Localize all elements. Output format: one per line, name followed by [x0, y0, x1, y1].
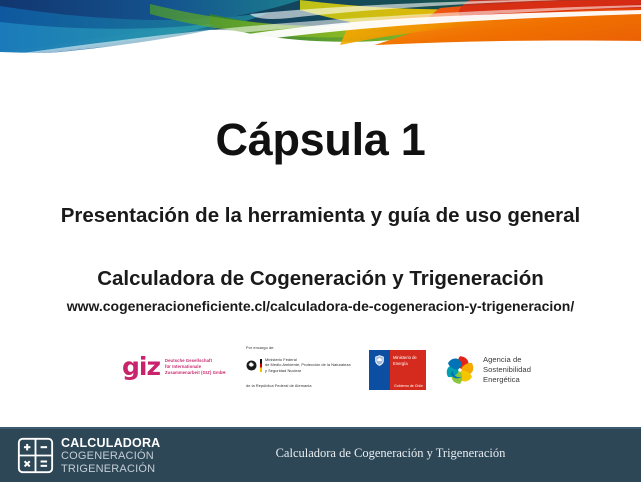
federal-eagle-icon: [246, 360, 257, 371]
footer-divider: [0, 427, 641, 429]
slide-subtitle-secondary: Calculadora de Cogeneración y Trigenerac…: [0, 268, 641, 291]
slide-content: Cápsula 1 Presentación de la herramienta…: [0, 56, 641, 427]
slide-subtitle-primary: Presentación de la herramienta y guía de…: [0, 205, 641, 228]
agencia-text-line-2: Sostenibilidad: [483, 365, 531, 375]
giz-logo: giz Deutsche Gesellschaft für Internatio…: [122, 356, 226, 379]
bmu-republic-label: de la República Federal de Alemania: [246, 384, 358, 389]
giz-tagline-line-3: Zusammenarbeit (GIZ) GmbH: [165, 370, 226, 376]
gobierno-de-chile-label: Gobierno de Chile: [394, 384, 423, 388]
chile-blue-panel: [369, 350, 390, 390]
agencia-text: Agencia de Sostenibilidad Energética: [483, 355, 531, 385]
bmu-commissioned-label: Por encargo de:: [246, 346, 358, 351]
pinwheel-mark-icon: [443, 353, 477, 387]
page-title: Cápsula 1: [0, 117, 641, 162]
giz-wordmark: giz: [122, 356, 160, 379]
chile-ministry-line-2: Energía: [393, 361, 426, 367]
footer-brand-line-3: TRIGENERACIÓN: [61, 463, 160, 476]
chile-red-panel: Ministerio de Energía Gobierno de Chile: [390, 350, 426, 390]
sponsor-logo-strip: giz Deutsche Gesellschaft für Internatio…: [0, 344, 641, 402]
agencia-text-line-3: Energética: [483, 375, 531, 385]
giz-tagline: Deutsche Gesellschaft für Internationale…: [165, 358, 226, 377]
bmu-ministry-line-3: y Seguridad Nuclear: [265, 368, 351, 374]
bmu-emblem-row: Ministerio Federal de Medio Ambiente, Pr…: [246, 357, 358, 374]
bmu-logo: Por encargo de: Ministerio Federal de Me…: [246, 346, 358, 388]
german-flag-bar: [260, 359, 262, 372]
website-url[interactable]: www.cogeneracioneficiente.cl/calculadora…: [0, 299, 641, 314]
footer-bar: CALCULADORA COGENERACIÓN TRIGENERACIÓN C…: [0, 427, 641, 482]
chile-coat-of-arms-icon: [373, 354, 386, 367]
wave-banner-graphic: [0, 0, 641, 56]
footer-title: Calculadora de Cogeneración y Trigenerac…: [0, 446, 641, 461]
chile-ministry-name: Ministerio de Energía: [393, 355, 426, 366]
ministerio-energia-logo: Ministerio de Energía Gobierno de Chile: [369, 350, 426, 390]
presentation-slide: Cápsula 1 Presentación de la herramienta…: [0, 0, 641, 482]
bmu-ministry-name: Ministerio Federal de Medio Ambiente, Pr…: [265, 357, 351, 374]
agencia-text-line-1: Agencia de: [483, 355, 531, 365]
header-wave-banner: [0, 0, 641, 56]
agencia-sostenibilidad-energetica-logo: Agencia de Sostenibilidad Energética: [443, 353, 531, 387]
